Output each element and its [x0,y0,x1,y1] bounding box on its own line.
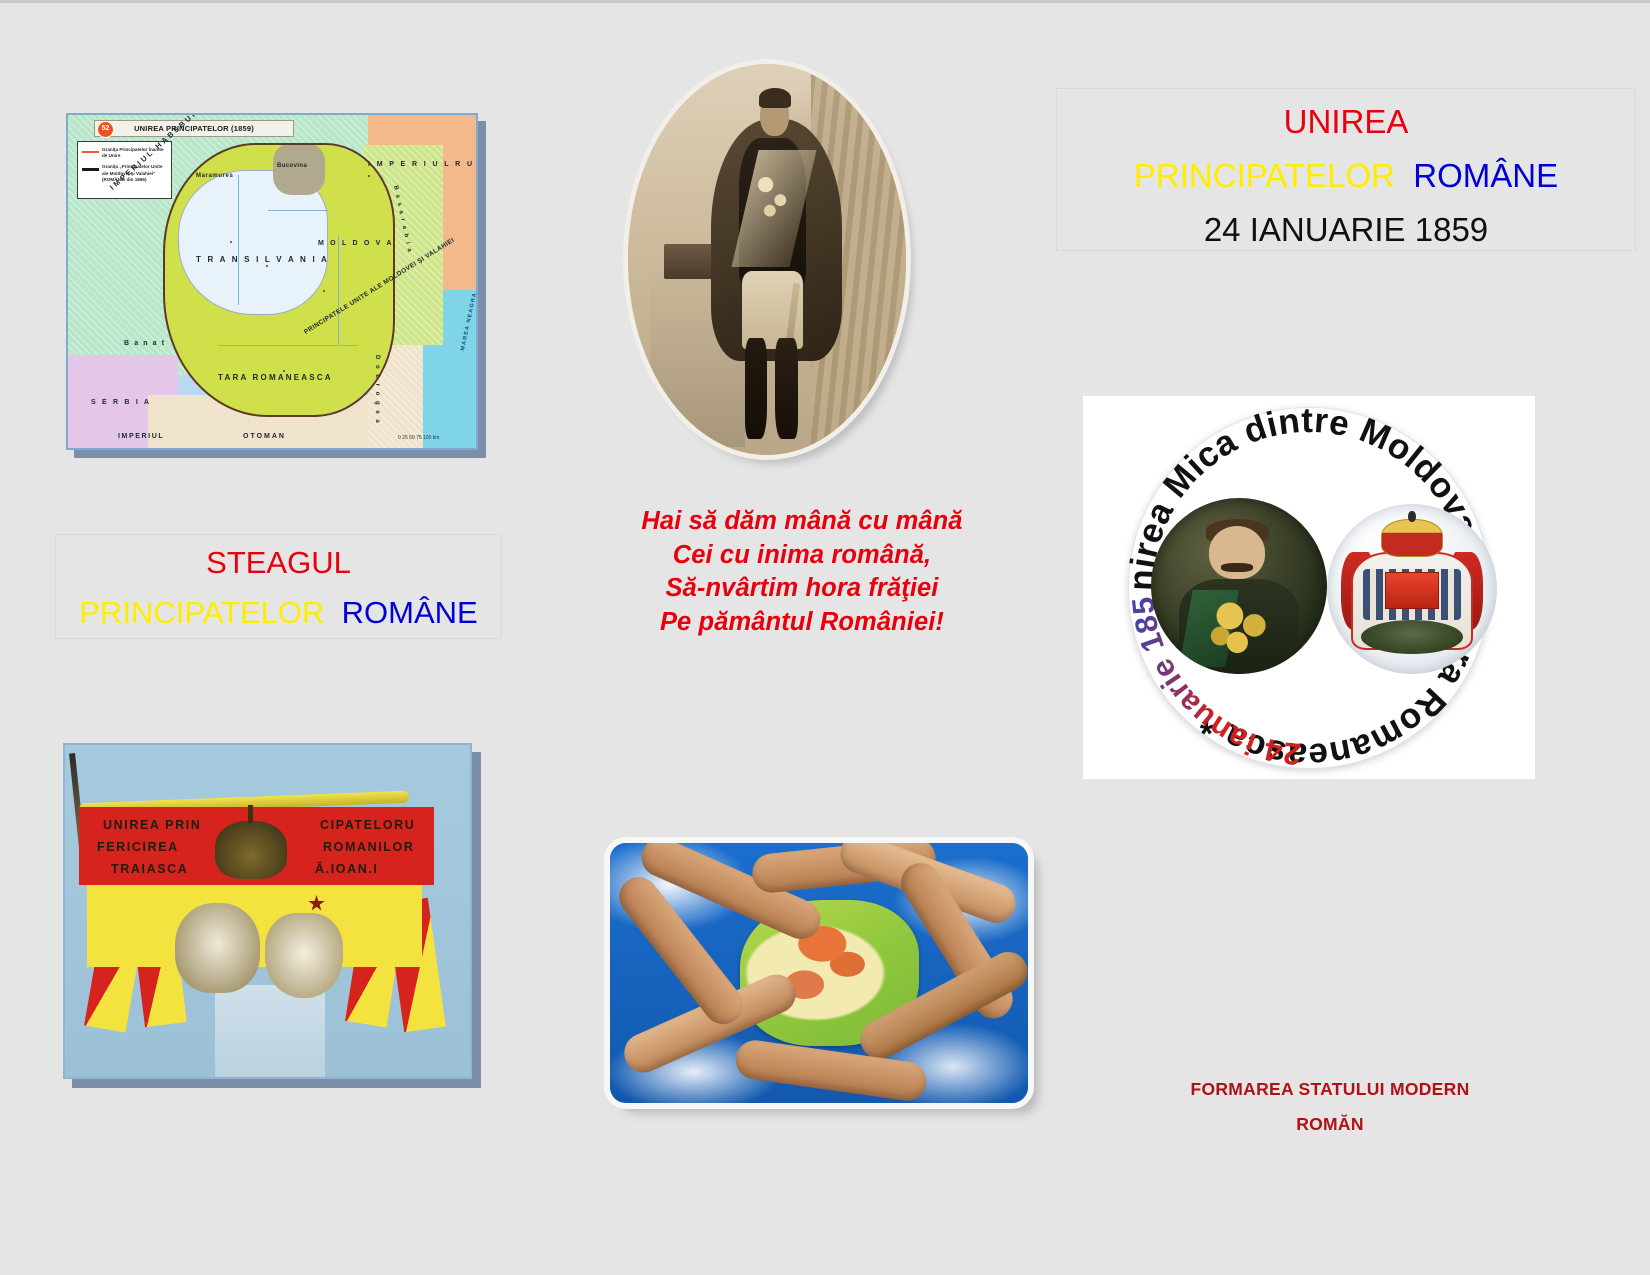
map-badge-number: 52 [97,121,114,138]
steagul-word-romane: ROMÂNE [342,595,478,630]
historic-flag-image[interactable]: UNIREA PRIN FERICIREA TRAIASCA CIPATELOR… [63,743,481,1088]
portrait-medals [753,166,795,229]
medallion-moustache [1221,563,1253,572]
flag-text-right-2: ROMANILOR [323,840,414,854]
flag-crown-icon [215,821,287,879]
map-label-banat: B a n a t [124,340,166,347]
title-line-unirea: UNIREA [1057,105,1635,138]
map-title: UNIREA PRINCIPATELOR (1859) [94,120,294,137]
poem-line-4: Pe pământul României! [592,606,1012,640]
coa-shield [1385,572,1439,609]
map-label-imperiul-rus: I M P E R I U L R U S [368,161,478,168]
map-label-moldova: M O L D O V A [318,240,394,247]
flag-pedestal [215,985,325,1079]
flag-text-left-1: UNIREA PRIN [103,818,201,832]
title-textbox[interactable]: UNIREA PRINCIPATELOR ROMÂNE 24 IANUARIE … [1056,88,1636,251]
map-label-otoman: OTOMAN [243,433,286,440]
poem-text: Hai să dăm mână cu mână Cei cu inima rom… [592,505,1012,640]
map-river [268,210,328,211]
badge-medallion-coat-of-arms [1327,504,1497,674]
caption-line-1: FORMAREA STATULUI MODERN [1060,1072,1600,1107]
portrait-hair [759,88,791,108]
flag-eagle-emblem-icon [175,903,260,993]
medallion-gold-embroidery [1204,597,1278,660]
hands-frame [610,843,1028,1103]
map-city-dot [283,370,285,372]
map-city-dot [230,241,232,243]
flag-frame: UNIREA PRIN FERICIREA TRAIASCA CIPATELOR… [63,743,472,1079]
portrait-boot-right [775,338,797,440]
cuza-portrait-image[interactable] [628,64,913,464]
bottom-caption: FORMAREA STATULUI MODERN ROMĂN [1060,1072,1600,1142]
map-label-maramures: Maramures [196,173,233,179]
map-label-serbia: S E R B I A [91,399,151,406]
title-word-principatelor: PRINCIPATELOR [1134,157,1395,194]
map-city-dot [323,290,325,292]
flag-text-left-3: TRAIASCA [111,862,188,876]
flag-text-right-1: CIPATELORU [320,818,415,832]
map-label-transilvania: T R A N S I L V A N I A [196,255,329,264]
legend-swatch-black-icon [82,168,99,171]
map-scale-bar: 0 25 50 75 100 km [398,435,439,441]
steagul-line-title: STEAGUL [56,547,501,578]
caption-line-2: ROMĂN [1060,1107,1600,1142]
map-label-dobrogea: D o b r o g e a [374,355,380,425]
legend-swatch-orange-icon [82,151,99,153]
map-label-bucovina: Bucovina [277,163,307,169]
steagul-line-principatelor-romane: PRINCIPATELOR ROMÂNE [56,597,501,628]
poem-line-2: Cei cu inima română, [592,539,1012,573]
hands-circle-photo[interactable] [610,843,1040,1115]
map-city-dot [266,265,268,267]
map-river [238,175,239,305]
map-label-tara-romaneasca: TARA ROMANEASCA [218,373,333,382]
steagul-textbox[interactable]: STEAGUL PRINCIPATELOR ROMÂNE [55,534,502,639]
coa-crown-icon [1381,519,1442,556]
unirea-mica-badge-image[interactable]: Unirea Mica dintre Moldova si Tara Roman… [1083,396,1535,779]
historical-map-image[interactable]: UNIREA PRINCIPATELOR (1859) 52 Graniţa P… [66,113,486,458]
title-line-date: 24 IANUARIE 1859 [1057,213,1635,246]
flag-aurochs-emblem-icon [265,913,343,998]
map-river [218,345,358,346]
slide-canvas: UNIREA PRINCIPATELOR (1859) 52 Graniţa P… [0,0,1650,1275]
title-line-principatelor-romane: PRINCIPATELOR ROMÂNE [1057,159,1635,192]
portrait-oval-frame [628,64,906,455]
poem-line-1: Hai să dăm mână cu mână [592,505,1012,539]
steagul-word-principatelor: PRINCIPATELOR [79,595,324,630]
map-frame: UNIREA PRINCIPATELOR (1859) 52 Graniţa P… [66,113,478,450]
flag-text-left-2: FERICIREA [97,840,179,854]
poem-line-3: Să-nvârtim hora frăţiei [592,572,1012,606]
map-river [338,235,339,345]
top-divider-line [0,0,1650,3]
title-word-romane: ROMÂNE [1413,157,1558,194]
map-label-imperiul: IMPERIUL [118,433,164,440]
portrait-boot-left [745,338,767,440]
map-city-dot [368,175,370,177]
badge-medallion-cuza [1151,498,1327,674]
coa-laurel-base [1361,620,1463,654]
flag-text-right-3: Ă.IOAN.I [315,862,379,876]
